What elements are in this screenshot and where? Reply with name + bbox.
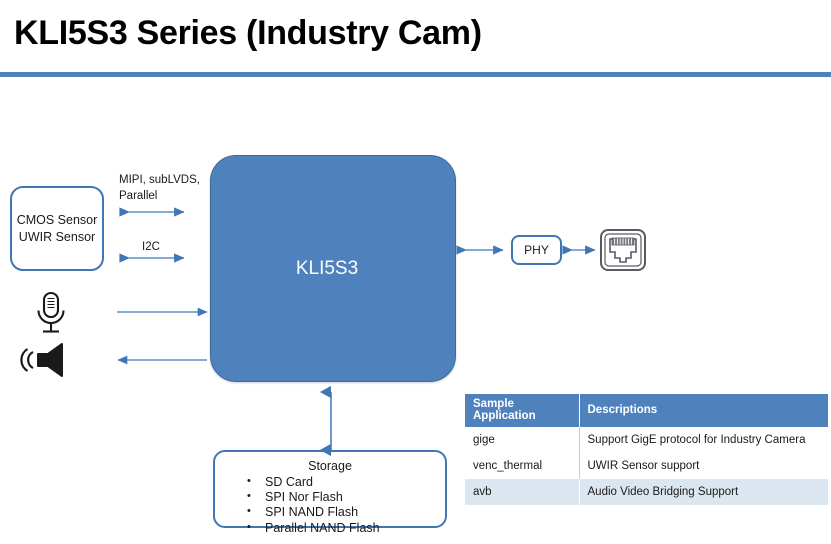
- slide-canvas: KLI5S3 Series (Industry Cam) CMOS Sensor…: [0, 0, 831, 544]
- page-title: KLI5S3 Series (Industry Cam): [14, 10, 714, 56]
- storage-item: SPI Nor Flash: [247, 490, 445, 505]
- storage-block: Storage SD Card SPI Nor Flash SPI NAND F…: [213, 450, 447, 528]
- table-cell-desc: Support GigE protocol for Industry Camer…: [579, 427, 828, 453]
- table-cell-desc: UWIR Sensor support: [579, 453, 828, 479]
- sensor-block: CMOS Sensor UWIR Sensor: [10, 186, 104, 271]
- sensor-data-arrow-label: MIPI, subLVDS, Parallel: [119, 173, 219, 204]
- table-header-descriptions: Descriptions: [579, 394, 828, 427]
- soc-block-label: KLI5S3: [296, 260, 358, 277]
- rj45-ethernet-jack-icon: [601, 230, 645, 270]
- table-cell-app: venc_thermal: [465, 453, 579, 479]
- storage-item: SPI NAND Flash: [247, 505, 445, 520]
- speaker-icon: [21, 344, 62, 376]
- table-header-row: Sample Application Descriptions: [465, 394, 828, 427]
- storage-block-title: Storage: [215, 458, 445, 474]
- sensor-block-line2: UWIR Sensor: [17, 229, 98, 246]
- table-row: avb Audio Video Bridging Support: [465, 479, 828, 505]
- title-divider: [0, 72, 831, 77]
- microphone-icon: [39, 293, 64, 332]
- sample-application-table: Sample Application Descriptions gige Sup…: [465, 394, 828, 505]
- soc-block: KLI5S3: [210, 155, 456, 382]
- table-row: venc_thermal UWIR Sensor support: [465, 453, 828, 479]
- storage-item: Parallel NAND Flash: [247, 521, 445, 536]
- table-row: gige Support GigE protocol for Industry …: [465, 427, 828, 453]
- table-header-sample-application: Sample Application: [465, 394, 579, 427]
- storage-item: SD Card: [247, 475, 445, 490]
- table-cell-app: avb: [465, 479, 579, 505]
- table-cell-app: gige: [465, 427, 579, 453]
- storage-item-list: SD Card SPI Nor Flash SPI NAND Flash Par…: [215, 475, 445, 536]
- sensor-control-arrow-label: I2C: [142, 240, 202, 256]
- sensor-block-line1: CMOS Sensor: [17, 212, 98, 229]
- table-cell-desc: Audio Video Bridging Support: [579, 479, 828, 505]
- phy-block: PHY: [511, 235, 562, 265]
- phy-block-label: PHY: [524, 242, 549, 259]
